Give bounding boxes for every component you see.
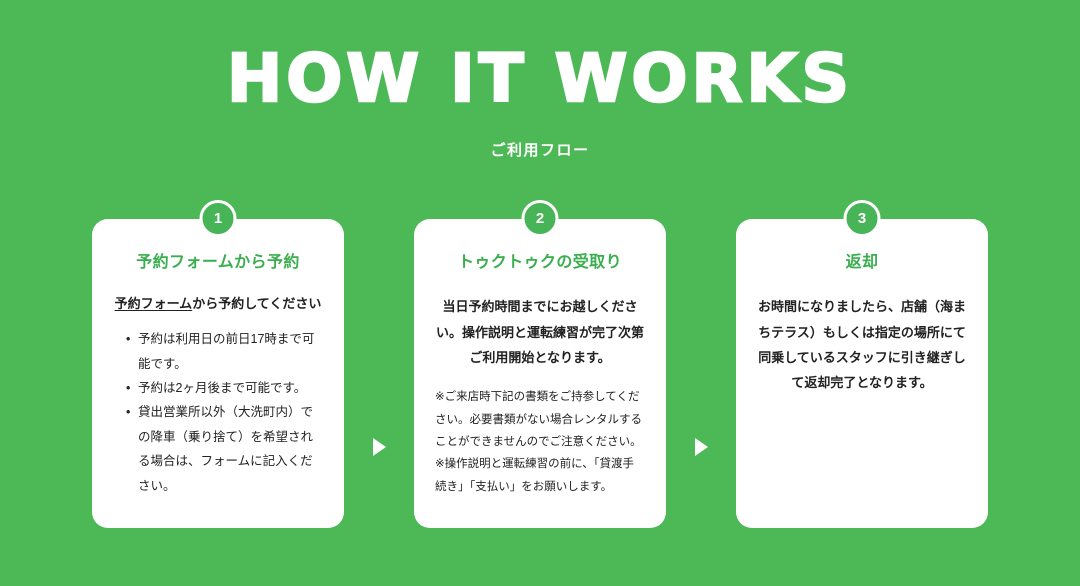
step-note-2-1: ※ご来店時下記の書類をご持参してください。必要書類がない場合レンタルすることがで… bbox=[435, 386, 645, 453]
list-item: 予約は2ヶ月後まで可能です。 bbox=[126, 376, 323, 400]
page-title: HOW IT WORKS bbox=[0, 46, 1080, 112]
step-badge-1: 1 bbox=[200, 200, 237, 237]
step-title-1: 予約フォームから予約 bbox=[113, 253, 323, 272]
step-lead-rest-1: から予約してください bbox=[192, 296, 321, 311]
arrow-right-icon bbox=[373, 438, 386, 456]
list-item: 予約は利用日の前日17時まで可能です。 bbox=[126, 327, 323, 376]
step-body-3: お時間になりましたら、店舗（海まちテラス）もしくは指定の場所にて同乗しているスタ… bbox=[757, 294, 967, 395]
step-body-2: 当日予約時間までにお越しください。操作説明と運転練習が完了次第ご利用開始となりま… bbox=[435, 294, 645, 370]
step-card-1: 予約フォームから予約 予約フォームから予約してください 予約は利用日の前日17時… bbox=[92, 219, 344, 528]
flow-step-3: 3 返却 お時間になりましたら、店舗（海まちテラス）もしくは指定の場所にて同乗し… bbox=[736, 200, 988, 528]
step-badge-2: 2 bbox=[522, 200, 559, 237]
flow-step-2: 2 トゥクトゥクの受取り 当日予約時間までにお越しください。操作説明と運転練習が… bbox=[414, 200, 666, 528]
page-subtitle: ご利用フロー bbox=[0, 112, 1080, 158]
flow-step-1: 1 予約フォームから予約 予約フォームから予約してください 予約は利用日の前日1… bbox=[92, 200, 344, 528]
arrow-step-2-to-3-wrap bbox=[666, 200, 736, 528]
step-card-2: トゥクトゥクの受取り 当日予約時間までにお越しください。操作説明と運転練習が完了… bbox=[414, 219, 666, 528]
arrow-right-icon bbox=[695, 438, 708, 456]
step-title-2: トゥクトゥクの受取り bbox=[435, 253, 645, 272]
step-lead-1: 予約フォームから予約してください bbox=[113, 294, 323, 314]
step-badge-3: 3 bbox=[844, 200, 881, 237]
step-title-3: 返却 bbox=[757, 253, 967, 272]
arrow-step-1-to-2-wrap bbox=[344, 200, 414, 528]
list-item: 貸出営業所以外（大洗町内）での降車（乗り捨て）を希望される場合は、フォームに記入… bbox=[126, 400, 323, 498]
step-bullet-list-1: 予約は利用日の前日17時まで可能です。 予約は2ヶ月後まで可能です。 貸出営業所… bbox=[113, 327, 323, 498]
step-note-2-2: ※操作説明と運転練習の前に、「貸渡手続き」「支払い」をお願いします。 bbox=[435, 453, 645, 498]
section-header: HOW IT WORKS ご利用フロー bbox=[0, 0, 1080, 158]
step-card-3: 返却 お時間になりましたら、店舗（海まちテラス）もしくは指定の場所にて同乗してい… bbox=[736, 219, 988, 528]
how-it-works-section: HOW IT WORKS ご利用フロー 1 予約フォームから予約 予約フォームか… bbox=[0, 0, 1080, 586]
reservation-form-link[interactable]: 予約フォーム bbox=[115, 296, 193, 311]
flow-steps-row: 1 予約フォームから予約 予約フォームから予約してください 予約は利用日の前日1… bbox=[0, 200, 1080, 528]
